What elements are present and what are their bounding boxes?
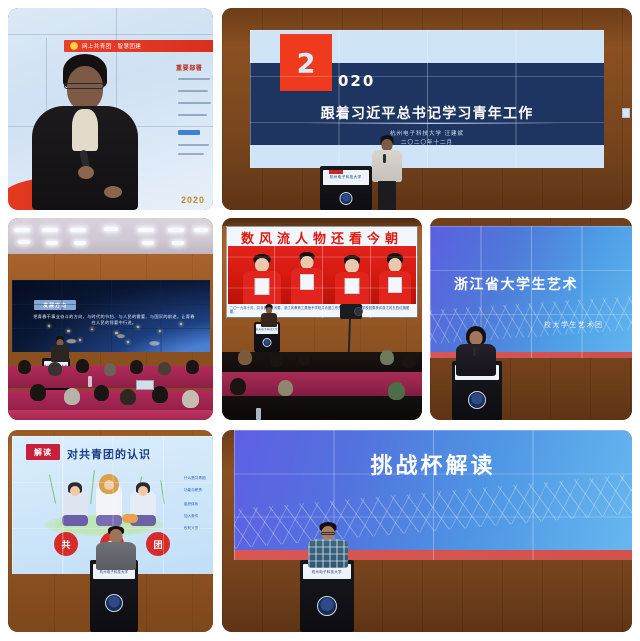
plant-stem-icon: [90, 470, 95, 504]
presenter-microphone: [383, 154, 386, 163]
speaker-figure: [30, 54, 140, 210]
student-face: [389, 258, 402, 272]
slide-side-line: 加入条件: [184, 514, 198, 519]
slide-bullet-line: [178, 90, 208, 92]
ceiling-light: [46, 241, 58, 245]
city-light: [79, 339, 81, 341]
speaker-jacket: [261, 313, 277, 327]
audience-head: [120, 389, 136, 405]
city-light: [159, 330, 162, 332]
student-face-icon: [138, 486, 148, 496]
slide-subtitle-date: 二〇二〇年十二月: [250, 138, 604, 146]
slide-bullet-line: [178, 114, 207, 116]
slide-big-number: 2: [297, 48, 316, 79]
ceiling-light: [142, 241, 154, 245]
panel-lecture-hall-award-photo: 数风流人物还看今朝: [222, 218, 422, 420]
slide-bullet-line: [178, 78, 210, 80]
slide-badge-text: 解读: [34, 447, 52, 458]
plant-stem-icon: [49, 474, 56, 504]
slide-side-line: 组织体系: [184, 502, 198, 507]
panel-league-understanding-slide: 解读 对共青团的认识 共: [8, 430, 213, 632]
city-light: [137, 326, 139, 328]
hall-ceiling: [8, 218, 213, 254]
ceiling-light: [172, 241, 184, 245]
slide-bullet-line: [178, 102, 211, 104]
university-emblem-icon: [317, 596, 337, 616]
illustration-student: [62, 490, 88, 526]
audience-head: [298, 352, 310, 365]
slide-number-block: 2: [280, 34, 332, 91]
panel-art-troupe-slide: 浙江省大学生艺术 校大学生艺术团 杭州电子科技大学: [430, 218, 632, 420]
podium-sign-text: 杭州电子科技大学: [330, 175, 362, 180]
student-in-red: [334, 255, 370, 304]
city-light: [127, 341, 129, 343]
audience-head: [186, 360, 199, 374]
slide-circle-char: 团: [146, 532, 170, 556]
seat-row: [8, 410, 213, 420]
city-light: [67, 330, 70, 332]
panel-title-slide-2020: 2 020 跟着习近平总书记学习青年工作 杭州电子科技大学 汪建斌 二〇二〇年十…: [222, 8, 632, 210]
podium-sign-text: 杭州电子科技大学: [256, 327, 278, 331]
water-bottle: [256, 408, 261, 420]
student-legs-icon: [96, 515, 122, 526]
certificate-card: [345, 278, 360, 294]
panel-challenge-cup-slide: 挑战杯解读 杭州电子科技大学: [222, 430, 632, 632]
podium: 杭州电子科技大学: [90, 560, 138, 632]
slide-calligraphy-title: 数风流人物还看今朝: [226, 228, 418, 247]
led-video-wall: 挑战杯解读: [234, 430, 632, 560]
ceiling-light: [42, 228, 58, 232]
student-in-red: [242, 254, 282, 304]
wall-band-light-bottom: [250, 145, 604, 168]
student-face: [345, 259, 359, 273]
slide-banner-text: 网上共青团 · 智慧团建: [82, 42, 141, 50]
photo-collage: 网上共青团 · 智慧团建 重要部署 2020: [0, 0, 640, 641]
certificate-card: [255, 278, 270, 295]
slide-red-strip: [234, 550, 632, 560]
exit-sign-icon: [622, 108, 630, 118]
audience-head: [94, 385, 109, 401]
student-face: [255, 258, 269, 272]
podium-sign-text: 杭州电子科技大学: [312, 569, 342, 574]
ceiling-light: [74, 241, 86, 245]
slide-side-line: 功能与职责: [184, 488, 202, 493]
ceiling-light: [14, 228, 30, 232]
slide-body-text: 把青春干事业奋斗的方向，与时代的节拍、与人民的需要、与国家的前途，让青春在人民的…: [32, 314, 196, 326]
panel-lecture-hall-earth-slide: 发展方向 把青春干事业奋斗的方向，与时代的节拍、与人民的需要、与国家的前途，让青…: [8, 218, 213, 420]
audience-head: [48, 362, 62, 376]
slide-side-line: 权利义务: [184, 526, 198, 531]
audience-head: [182, 390, 199, 408]
speaker-glasses: [64, 83, 104, 89]
audience-head: [388, 382, 405, 400]
presenter-figure: [454, 326, 498, 376]
slide-tag-text: 发展方向: [43, 302, 67, 309]
illustration-student: [96, 484, 122, 526]
student-in-red: [290, 252, 324, 304]
slide-headline: 对共青团的认识: [67, 446, 151, 462]
student-face-icon: [104, 480, 114, 490]
audience-head: [380, 350, 394, 365]
presenter-figure: [370, 135, 404, 210]
slide-group-photo: [228, 246, 416, 304]
slide-main-title: 跟着习近平总书记学习青年工作: [250, 103, 604, 123]
slide-zigzag-graphic: [234, 472, 632, 551]
led-video-wall: 发展方向 把青春干事业奋斗的方向，与时代的节拍、与人民的需要、与国家的前途，让青…: [12, 280, 210, 352]
podium: 杭州电子科技大学: [320, 166, 372, 210]
wall-seam-horizontal: [8, 34, 213, 35]
speaker-plaid-shirt: [308, 539, 348, 568]
slide-title-rule: [302, 123, 564, 124]
slide-badge: 解读: [26, 444, 60, 460]
slide-photo-caption: 二〇一九年十月，共青团浙江省委、浙江省教育工委授予学校共青团工作先进单位称号，学…: [230, 306, 414, 315]
slide-tag-box: 发展方向: [34, 300, 76, 310]
city-light: [91, 328, 93, 330]
ceiling-light: [168, 228, 184, 232]
podium: 杭州电子科技大学: [300, 560, 354, 632]
hall-speaker-figure: [260, 304, 278, 326]
audience-head: [130, 360, 143, 374]
camera-lens-icon: [354, 307, 363, 316]
illustration-dog-icon: [122, 514, 138, 523]
presenter-microphone: [473, 347, 476, 356]
certificate-card: [388, 277, 402, 293]
slide-title: 挑战杯解读: [234, 448, 632, 480]
audience-head: [76, 359, 89, 373]
slide-subtitle: 校大学生艺术团: [544, 320, 604, 330]
audience-head: [158, 362, 171, 375]
plant-stem-icon: [160, 480, 165, 504]
certificate-card: [300, 274, 314, 290]
slide-year-suffix: 020: [338, 72, 375, 90]
ceiling-light: [70, 228, 86, 232]
panel-speaker-closeup: 网上共青团 · 智慧团建 重要部署 2020: [8, 8, 213, 210]
speaker-glasses: [321, 532, 335, 535]
city-light: [115, 332, 118, 334]
led-video-wall: 2 020 跟着习近平总书记学习青年工作 杭州电子科技大学 汪建斌 二〇二〇年十…: [250, 30, 604, 168]
slide-title: 浙江省大学生艺术: [454, 274, 578, 294]
ceiling-light: [18, 240, 30, 244]
slide-section-title: 重要部署: [176, 63, 202, 72]
speaker-jacket: [96, 542, 136, 570]
audience-head: [278, 380, 293, 396]
slide-subtitle-author: 杭州电子科技大学 汪建斌: [250, 129, 604, 137]
speaker-head: [110, 529, 123, 543]
university-emblem-icon: [468, 391, 486, 409]
student-legs-icon: [62, 515, 88, 526]
audience-head: [30, 384, 46, 401]
slide-bullet-line: [178, 153, 204, 155]
water-bottle: [88, 376, 92, 387]
slide-year-label: 2020: [181, 195, 205, 205]
presenter-shirt: [372, 150, 402, 182]
laptop-screen: [136, 380, 154, 390]
slide-side-line: 什么是共青团: [184, 476, 206, 481]
slide-circle-char: 共: [54, 532, 78, 556]
presenter-head: [470, 331, 483, 345]
university-emblem-icon: [105, 594, 123, 612]
university-emblem-icon: [340, 192, 353, 205]
ceiling-light: [194, 228, 208, 232]
presenter-jacket: [456, 344, 496, 376]
audience-area: [222, 348, 422, 420]
audience-head: [238, 350, 252, 365]
ceiling-light: [104, 227, 118, 231]
student-in-red: [378, 253, 412, 304]
speaker-hand: [78, 166, 94, 179]
speaker-hand-2: [104, 186, 122, 198]
audience-head: [230, 378, 246, 395]
presenter-trousers: [378, 181, 396, 210]
audience-area: [8, 358, 213, 420]
slide-highlight-button: [178, 130, 200, 135]
ceiling-light: [138, 228, 154, 232]
speaker-figure: [94, 526, 138, 570]
university-emblem-icon: [263, 338, 272, 347]
audience-head: [270, 354, 283, 367]
audience-head: [104, 363, 116, 376]
audience-head: [64, 388, 80, 405]
audience-head: [18, 360, 31, 374]
audience-head: [152, 386, 168, 403]
slide-bullet-line: [178, 144, 209, 146]
speaker-figure: [306, 522, 350, 568]
podium-red-tag: [329, 170, 343, 174]
wall-upper-trim: [222, 218, 422, 226]
student-face-icon: [70, 486, 80, 496]
slide-banner: 网上共青团 · 智慧团建: [64, 40, 213, 52]
audience-head: [402, 354, 416, 368]
led-video-wall: 数风流人物还看今朝: [226, 226, 418, 318]
speaker-shirt: [72, 109, 98, 151]
youth-league-emblem-icon: [70, 42, 78, 50]
